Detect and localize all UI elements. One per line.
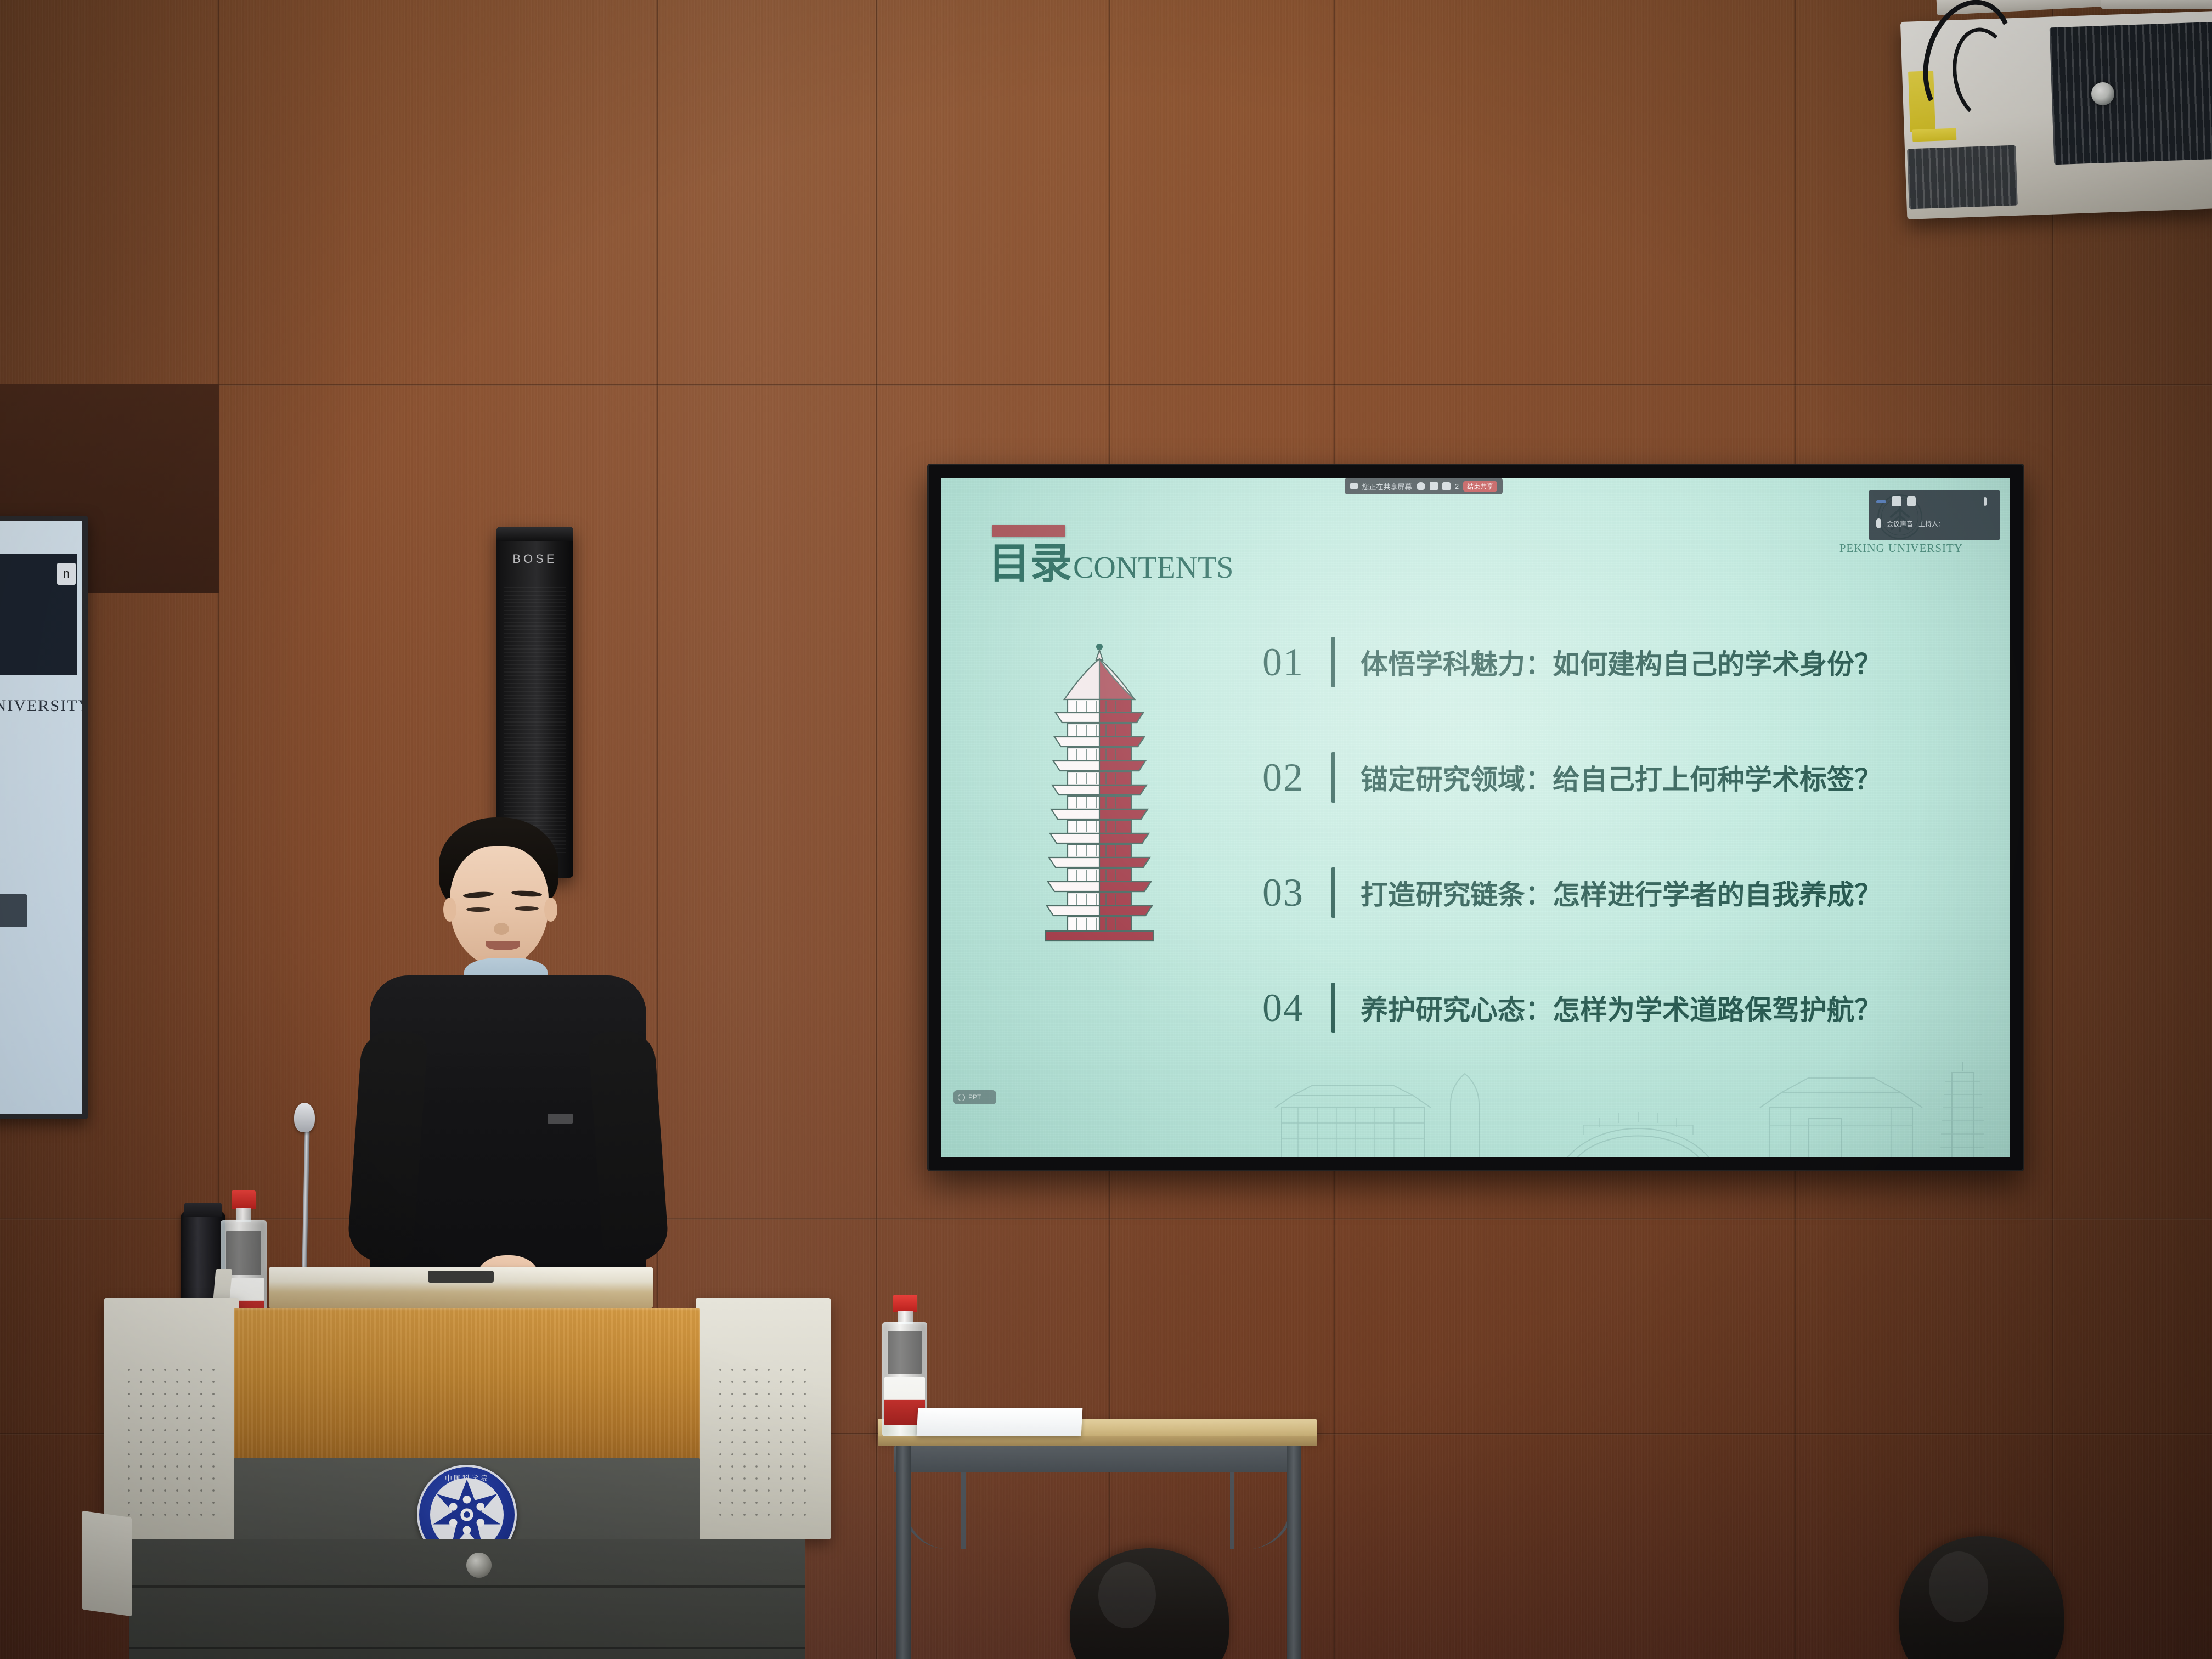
lecture-hall-photo: n UNIVERSITY BOSE 目录 CONTENTS [0, 0, 2212, 1659]
lectern-wood-front [234, 1308, 700, 1460]
projection-glare [941, 478, 2010, 1157]
lectern-speaker-grille [123, 1364, 219, 1526]
projector-warning-label [1912, 128, 1957, 142]
projector-lens-icon [2091, 82, 2114, 105]
lectern-speaker-grille [714, 1364, 811, 1526]
lectern-side-shelf [82, 1511, 132, 1617]
lectern-base [129, 1539, 805, 1659]
side-table-apron [894, 1446, 1300, 1472]
bottle-label-upper [888, 1331, 922, 1374]
microphone-head [294, 1103, 315, 1132]
wall-seam [876, 0, 878, 1659]
lectern-lock-icon[interactable] [466, 1553, 492, 1578]
side-monitor: n UNIVERSITY [0, 516, 88, 1119]
speaker-brand-label: BOSE [496, 552, 573, 566]
lectern-right-panel [696, 1298, 831, 1539]
side-table-edge [878, 1436, 1317, 1446]
presenter-eye-closed [515, 906, 539, 911]
side-monitor-caption: UNIVERSITY [0, 697, 82, 715]
presenter-ear [544, 898, 557, 922]
presentation-display[interactable]: 目录 CONTENTS [927, 464, 2024, 1171]
wall-seam [2052, 0, 2054, 1659]
side-table-leg [1287, 1446, 1301, 1659]
side-monitor-widget [0, 894, 27, 927]
projector-mount [2101, 0, 2212, 9]
presenter-ear [443, 898, 456, 922]
lectern-ledge-notch [428, 1271, 494, 1283]
presenter-mouth [486, 941, 520, 950]
handout-paper [917, 1408, 1083, 1436]
ceiling-projector [1865, 0, 2212, 236]
side-monitor-screen: n UNIVERSITY [0, 521, 82, 1114]
bottle-label-upper [226, 1231, 261, 1275]
display-screen: 目录 CONTENTS [941, 478, 2010, 1157]
emblem-cn-text: 中国科学院 [417, 1472, 517, 1483]
wall-seam [0, 384, 2212, 386]
presenter-nose [494, 923, 509, 935]
projector-vent [2050, 22, 2212, 165]
bottle-cap [893, 1295, 917, 1312]
lectern: 中国科学院 CHINESE ACADEMY OF SCIENCES [104, 1278, 872, 1659]
projector-port-panel [1907, 145, 2018, 210]
bottle-cap [232, 1190, 256, 1209]
side-monitor-chip: n [57, 563, 76, 585]
sweater-brand-tag [548, 1114, 573, 1124]
speaker-tower-cap [496, 527, 573, 541]
presenter-eye-closed [466, 907, 490, 912]
presenter [329, 795, 713, 1317]
side-table-leg [896, 1446, 911, 1659]
lectern-left-panel [104, 1298, 239, 1539]
slide-contents: 目录 CONTENTS [941, 478, 2010, 1157]
lectern-base-seam [129, 1585, 805, 1588]
lectern-base-seam [129, 1647, 805, 1649]
thermos-cap [184, 1203, 222, 1217]
